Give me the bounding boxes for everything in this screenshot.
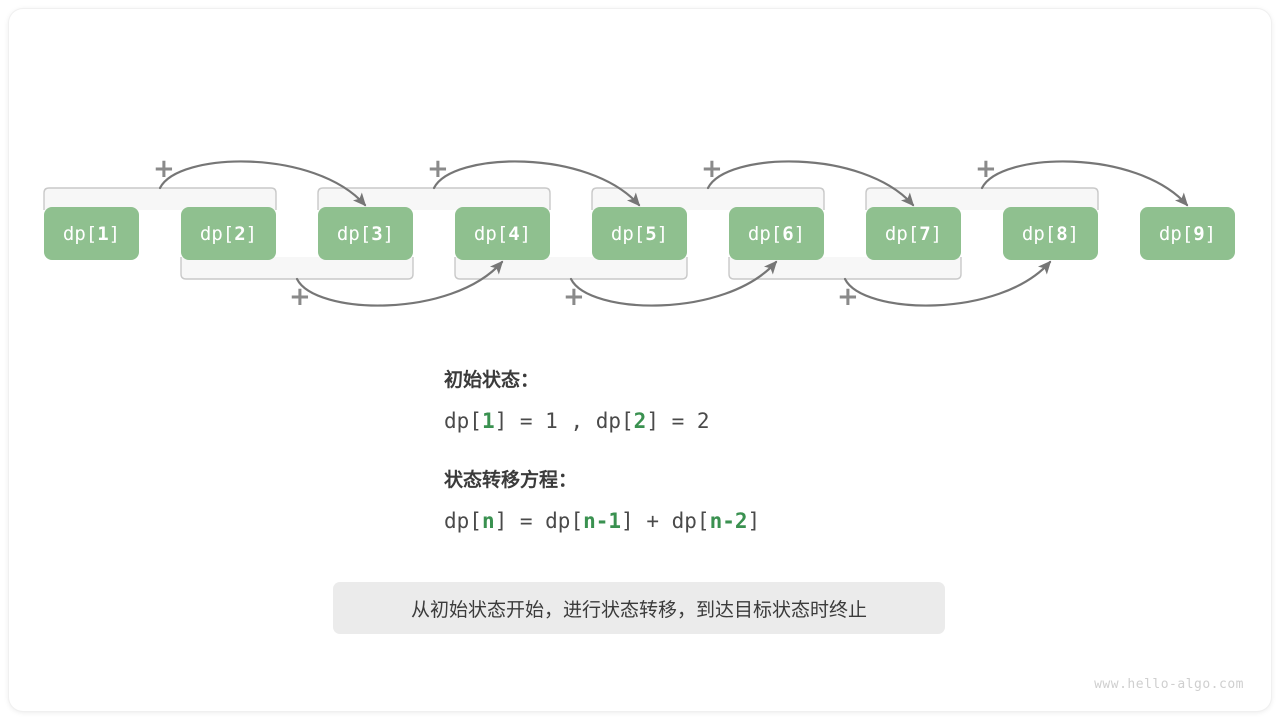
dp-box-prefix: dp[ bbox=[474, 223, 508, 245]
page-root: dp[1]dp[2]dp[3]dp[4]dp[5]dp[6]dp[7]dp[8]… bbox=[0, 0, 1280, 720]
plus-sign-top-1: + bbox=[153, 156, 175, 182]
dp-box-7: dp[7] bbox=[866, 207, 961, 260]
initial-state-heading: 初始状态： bbox=[444, 365, 539, 392]
dp-box-prefix: dp[ bbox=[885, 223, 919, 245]
dp-box-prefix: dp[ bbox=[337, 223, 371, 245]
dp-box-9: dp[9] bbox=[1140, 207, 1235, 260]
formula-index: n-1 bbox=[583, 509, 621, 533]
dp-box-5: dp[5] bbox=[592, 207, 687, 260]
dp-box-6: dp[6] bbox=[729, 207, 824, 260]
formula-text: ] = 2 bbox=[646, 409, 709, 433]
dp-box-prefix: dp[ bbox=[748, 223, 782, 245]
initial-state-heading-wrap: 初始状态： bbox=[444, 365, 539, 392]
dp-box-3: dp[3] bbox=[318, 207, 413, 260]
dp-box-index: 2 bbox=[234, 223, 245, 245]
dp-box-2: dp[2] bbox=[181, 207, 276, 260]
formula-text: ] + dp[ bbox=[621, 509, 710, 533]
formula-text: ] = 1 , dp[ bbox=[495, 409, 634, 433]
dp-box-index: 7 bbox=[919, 223, 930, 245]
formula-index: n bbox=[482, 509, 495, 533]
watermark: www.hello-algo.com bbox=[1094, 677, 1244, 692]
dp-box-4: dp[4] bbox=[455, 207, 550, 260]
dp-box-suffix: ] bbox=[246, 223, 257, 245]
plus-sign-bottom-3: + bbox=[837, 284, 859, 310]
dp-box-suffix: ] bbox=[794, 223, 805, 245]
dp-box-suffix: ] bbox=[383, 223, 394, 245]
dp-box-index: 6 bbox=[782, 223, 793, 245]
dp-box-1: dp[1] bbox=[44, 207, 139, 260]
dp-box-index: 3 bbox=[371, 223, 382, 245]
dp-box-index: 1 bbox=[97, 223, 108, 245]
dp-box-prefix: dp[ bbox=[63, 223, 97, 245]
dp-box-prefix: dp[ bbox=[1159, 223, 1193, 245]
plus-sign-bottom-1: + bbox=[289, 284, 311, 310]
dp-box-suffix: ] bbox=[1205, 223, 1216, 245]
formula-index: n-2 bbox=[710, 509, 748, 533]
dp-box-suffix: ] bbox=[520, 223, 531, 245]
formula-text: dp[ bbox=[444, 409, 482, 433]
dp-box-suffix: ] bbox=[1068, 223, 1079, 245]
dp-box-suffix: ] bbox=[109, 223, 120, 245]
formula-index: 2 bbox=[634, 409, 647, 433]
dp-box-8: dp[8] bbox=[1003, 207, 1098, 260]
formula-text: ] = dp[ bbox=[495, 509, 584, 533]
dp-box-index: 8 bbox=[1056, 223, 1067, 245]
plus-sign-bottom-2: + bbox=[563, 284, 585, 310]
dp-box-index: 5 bbox=[645, 223, 656, 245]
caption-banner: 从初始状态开始，进行状态转移，到达目标状态时终止 bbox=[333, 582, 945, 634]
formula-text: ] bbox=[748, 509, 761, 533]
dp-box-prefix: dp[ bbox=[200, 223, 234, 245]
transition-equation-heading: 状态转移方程： bbox=[444, 465, 577, 492]
dp-box-suffix: ] bbox=[931, 223, 942, 245]
formula-text: dp[ bbox=[444, 509, 482, 533]
transition-equation-formula: dp[n] = dp[n-1] + dp[n-2] bbox=[444, 509, 760, 533]
dp-box-index: 9 bbox=[1193, 223, 1204, 245]
transition-formula-wrap: dp[n] = dp[n-1] + dp[n-2] bbox=[444, 509, 760, 533]
dp-box-index: 4 bbox=[508, 223, 519, 245]
bracket-bottom-4-5 bbox=[455, 257, 687, 279]
formula-index: 1 bbox=[482, 409, 495, 433]
plus-sign-top-2: + bbox=[427, 156, 449, 182]
caption-text: 从初始状态开始，进行状态转移，到达目标状态时终止 bbox=[411, 595, 867, 622]
plus-sign-top-3: + bbox=[701, 156, 723, 182]
initial-state-formula-wrap: dp[1] = 1 , dp[2] = 2 bbox=[444, 409, 710, 433]
dp-box-prefix: dp[ bbox=[1022, 223, 1056, 245]
bracket-bottom-6-7 bbox=[729, 257, 961, 279]
bracket-bottom-2-3 bbox=[181, 257, 413, 279]
dp-box-prefix: dp[ bbox=[611, 223, 645, 245]
initial-state-formula: dp[1] = 1 , dp[2] = 2 bbox=[444, 409, 710, 433]
plus-sign-top-4: + bbox=[975, 156, 997, 182]
dp-box-suffix: ] bbox=[657, 223, 668, 245]
transition-heading-wrap: 状态转移方程： bbox=[444, 465, 577, 492]
brackets-bottom-group bbox=[181, 257, 961, 279]
